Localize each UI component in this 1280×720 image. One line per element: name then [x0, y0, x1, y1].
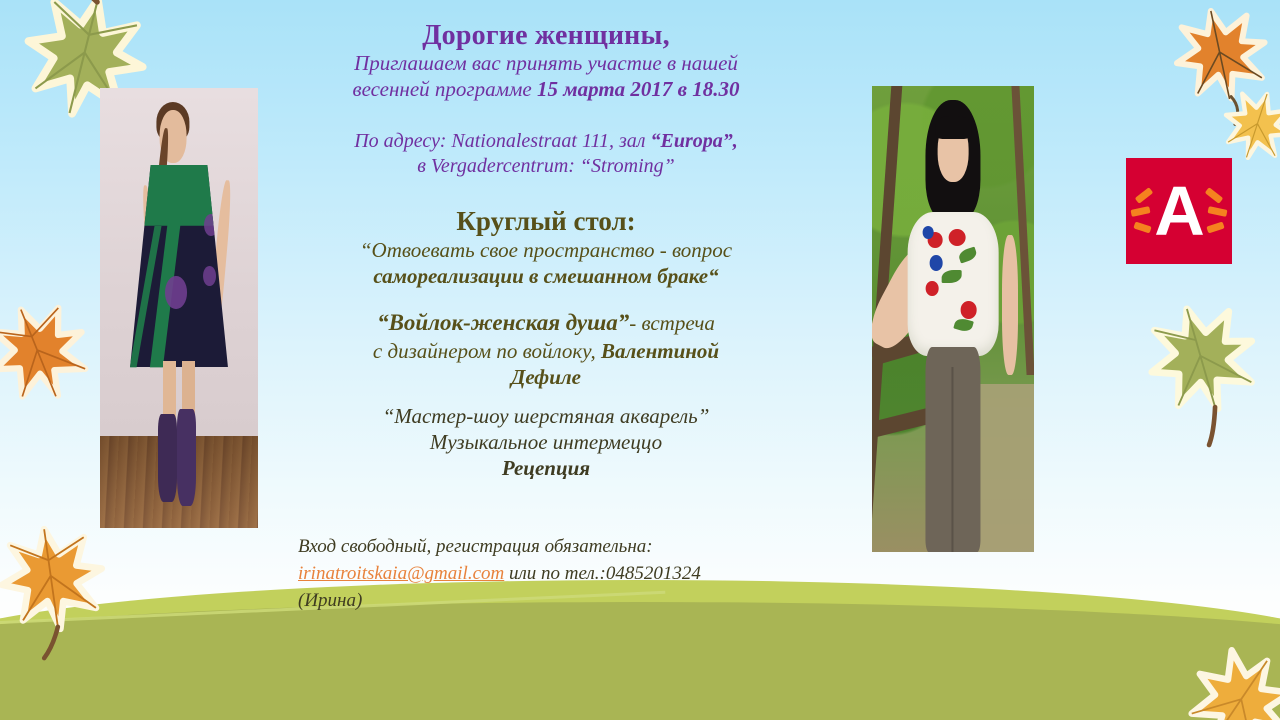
woman-fringe: [935, 116, 971, 139]
photo-model-green-dress: [100, 88, 258, 528]
leaf-bottom-left-icon: [0, 514, 117, 641]
logo-ray-3: [1133, 222, 1151, 234]
model-boot-right: [177, 409, 196, 506]
woman-felted-blouse: [908, 212, 999, 356]
woman-trousers: [925, 347, 980, 552]
footer-line-1: Вход свободный, регистрация обязательна:: [298, 534, 798, 561]
leaf-left-mid-icon: [0, 283, 109, 421]
hill-dark: [0, 602, 1280, 720]
logo-ray-4: [1205, 187, 1223, 204]
address-line-2: в Vergadercentrum: “Stroming”: [286, 154, 806, 179]
footer-line-2: irinatroitskaia@gmail.com или по тел.:04…: [298, 561, 798, 588]
page-title: Дорогие женщины,: [286, 20, 806, 51]
invite-line-2-prefix: весенней программе: [352, 77, 537, 101]
felt-meeting-line-1: “Войлок-женская душа”- встреча: [286, 309, 806, 338]
felt-meeting-title: “Войлок-женская душа”: [377, 310, 629, 335]
roundtable-title: Круглый стол:: [286, 205, 806, 237]
felt-meeting-line-2: с дизайнером по войлоку, Валентиной: [286, 338, 806, 364]
logo-ray-5: [1207, 206, 1227, 217]
logo-letter-a: A: [1154, 176, 1204, 246]
event-date: 15 марта 2017 в 18.30: [537, 77, 740, 101]
designer-name: Валентиной: [601, 339, 719, 363]
woman-arm-right: [1002, 235, 1018, 375]
program-item-3: Рецепция: [286, 455, 806, 481]
contact-email-link[interactable]: irinatroitskaia@gmail.com: [298, 563, 504, 584]
felt-meeting-title-suffix: - встреча: [629, 311, 715, 335]
felt-meeting-line-2-prefix: с дизайнером по войлоку,: [373, 339, 601, 363]
antwerp-logo: A: [1126, 158, 1232, 264]
model-boot-left: [158, 414, 177, 502]
leaf-right-green-icon: [1126, 285, 1275, 430]
contact-phone: или по тел.:0485201324: [504, 563, 701, 584]
felt-meeting-line-3: Дефиле: [286, 364, 806, 390]
address-line-1: По адресу: Nationalestraat 111, зал “Eur…: [286, 129, 806, 154]
poster-text-block: Дорогие женщины, Приглашаем вас принять …: [286, 20, 806, 481]
contact-name: (Ирина): [298, 588, 798, 615]
address-hall: “Europa”,: [651, 130, 738, 152]
logo-ray-6: [1206, 222, 1224, 234]
poster-canvas: A Дорогие женщины, Приглашаем вас принят…: [0, 0, 1280, 720]
program-item-2: Музыкальное интермеццо: [286, 429, 806, 455]
logo-ray-2: [1130, 206, 1150, 217]
footer-contact-block: Вход свободный, регистрация обязательна:…: [298, 534, 798, 615]
roundtable-quote-line-2: самореализации в смешанном браке“: [286, 263, 806, 289]
program-item-1: “Мастер-шоу шерстяная акварель”: [286, 403, 806, 429]
photo-woman-poppy-blouse: [872, 86, 1034, 552]
roundtable-quote-line-1: “Отвоевать свое пространство - вопрос: [286, 237, 806, 263]
invite-line-2: весенней программе 15 марта 2017 в 18.30: [286, 77, 806, 103]
address-prefix: По адресу: Nationalestraat 111, зал: [354, 130, 650, 152]
invite-line-1: Приглашаем вас принять участие в нашей: [286, 51, 806, 77]
logo-ray-1: [1135, 187, 1153, 204]
